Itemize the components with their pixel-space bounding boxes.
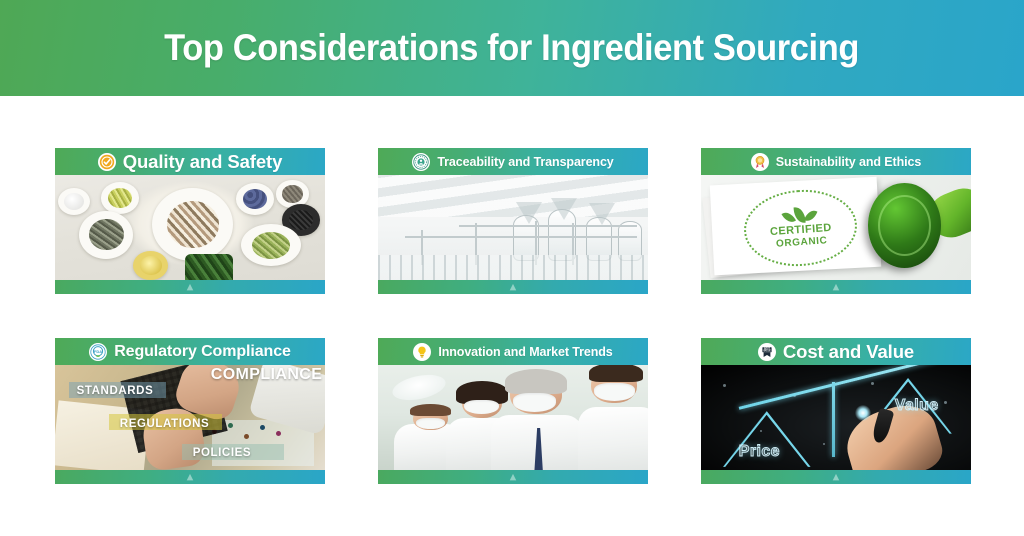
brand-watermark-icon	[508, 473, 518, 482]
card-traceability-and-transparency[interactable]: Traceability and Transparency	[378, 148, 648, 294]
card-titlebar: BEST VALUE Cost and Value	[701, 338, 971, 365]
overlay-word-compliance: COMPLIANCE	[211, 366, 323, 384]
overlay-word-regulations: REGULATIONS	[120, 418, 209, 430]
ingredient-bowls-photo	[55, 175, 325, 280]
brand-watermark-icon	[185, 473, 195, 482]
card-titlebar: Sustainability and Ethics	[701, 148, 971, 175]
overlay-word-policies: POLICIES	[193, 447, 251, 459]
card-image-compliance: COMPLIANCE STANDARDS REGULATIONS POLICIE…	[55, 365, 325, 470]
page-banner: Top Considerations for Ingredient Sourci…	[0, 0, 1024, 96]
card-footer	[55, 280, 325, 294]
card-quality-and-safety[interactable]: Quality and Safety	[55, 148, 325, 294]
svg-text:VALUE: VALUE	[763, 349, 771, 352]
check-circle-icon	[98, 153, 116, 171]
best-value-badge-icon: BEST VALUE	[758, 343, 776, 361]
card-regulatory-compliance[interactable]: FDA Regulatory Compliance	[55, 338, 325, 484]
card-innovation-and-market-trends[interactable]: Innovation and Market Trends	[378, 338, 648, 484]
card-title: Regulatory Compliance	[114, 343, 291, 361]
svg-text:FDA: FDA	[94, 348, 102, 353]
card-title: Innovation and Market Trends	[438, 345, 612, 359]
card-footer	[378, 280, 648, 294]
card-image-cost-value: Price Value	[701, 365, 971, 470]
compliance-desk-photo: COMPLIANCE STANDARDS REGULATIONS POLICIE…	[55, 365, 325, 470]
brand-watermark-icon	[831, 473, 841, 482]
consideration-card-grid: Quality and Safety	[55, 148, 970, 484]
card-titlebar: Innovation and Market Trends	[378, 338, 648, 365]
fda-badge-icon: FDA	[89, 343, 107, 361]
stamp-line-2: ORGANIC	[776, 236, 828, 250]
card-footer	[378, 470, 648, 484]
seal-badge-icon	[412, 153, 430, 171]
page-title: Top Considerations for Ingredient Sourci…	[165, 27, 860, 69]
card-image-innovation	[378, 365, 648, 470]
lightbulb-icon	[413, 343, 431, 361]
card-footer	[55, 470, 325, 484]
brand-watermark-icon	[508, 283, 518, 292]
scale-label-value: Value	[895, 397, 939, 415]
card-footer	[701, 470, 971, 484]
card-title: Quality and Safety	[123, 151, 283, 173]
laboratory-scientists-photo	[378, 365, 648, 470]
brand-watermark-icon	[831, 283, 841, 292]
brand-watermark-icon	[185, 283, 195, 292]
card-title: Traceability and Transparency	[437, 155, 613, 169]
card-image-quality	[55, 175, 325, 280]
card-image-traceability	[378, 175, 648, 280]
card-image-sustainability: CERTIFIED ORGANIC	[701, 175, 971, 280]
card-titlebar: Traceability and Transparency	[378, 148, 648, 175]
certified-organic-stamp-photo: CERTIFIED ORGANIC	[701, 175, 971, 280]
card-title: Cost and Value	[783, 341, 914, 363]
price-value-scale-photo: Price Value	[701, 365, 971, 470]
card-titlebar: FDA Regulatory Compliance	[55, 338, 325, 365]
processing-plant-photo	[378, 175, 648, 280]
card-title: Sustainability and Ethics	[776, 155, 921, 169]
card-sustainability-and-ethics[interactable]: Sustainability and Ethics CERTIFIED ORGA…	[701, 148, 971, 294]
overlay-word-standards: STANDARDS	[77, 385, 154, 397]
scale-label-price: Price	[739, 443, 780, 461]
award-rosette-icon	[751, 153, 769, 171]
card-cost-and-value[interactable]: BEST VALUE Cost and Value	[701, 338, 971, 484]
card-titlebar: Quality and Safety	[55, 148, 325, 175]
card-footer	[701, 280, 971, 294]
